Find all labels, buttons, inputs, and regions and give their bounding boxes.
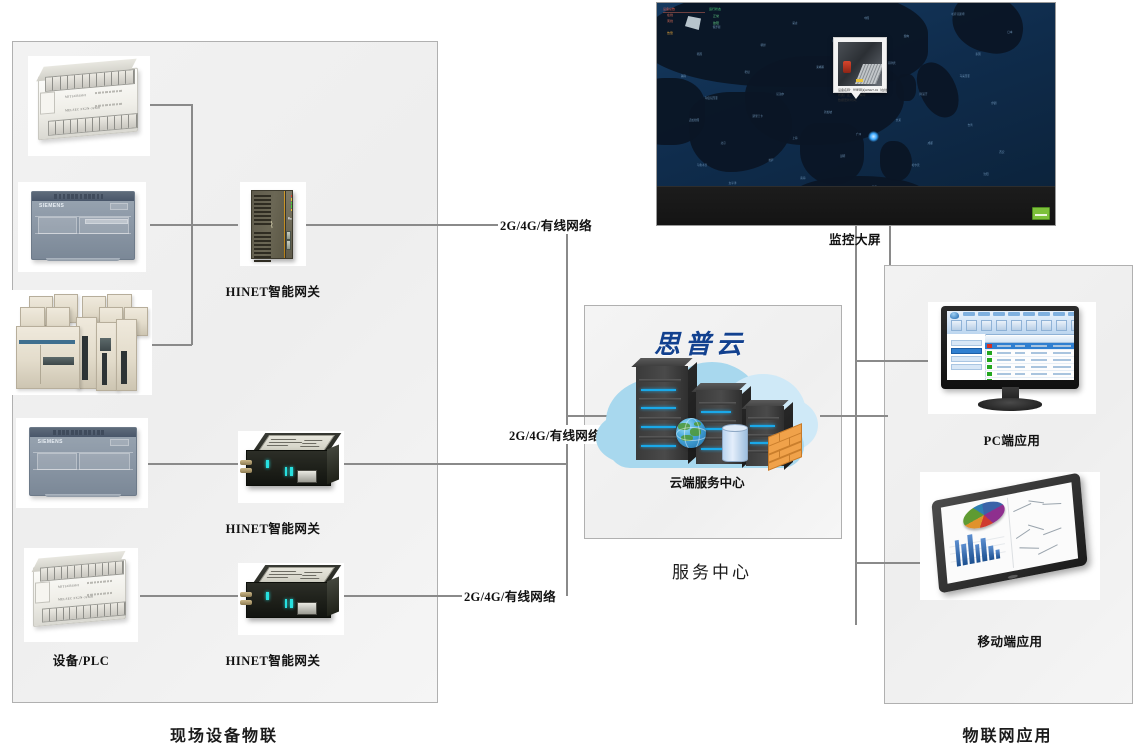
gateway-antenna-connector-2 [240,468,252,473]
gateway-ethernet-port-2 [286,240,292,249]
plc-brand-text: SIEMENS [38,439,63,445]
plc-mitsubishi-bottom[interactable]: MITSUBISHI MELSEC FX2N-32MR [24,548,138,642]
link-gateway3-to-trunk [343,595,463,597]
link-plc-to-gateway3 [140,595,238,597]
gateway-side-face [327,444,339,483]
rack-slat [639,379,681,382]
hinet-gateway-1[interactable]: ⌇ [240,182,306,266]
landmass-arabia [656,78,705,145]
plc-mitsubishi-top[interactable]: MITSUBISHI MELSEC FX2N-32MR [28,56,150,156]
plc-foot [46,258,120,261]
monitor-stand-base [978,398,1042,410]
rack-tall-2-slot [102,353,108,385]
rack-led-bar [701,411,731,413]
rack-slat [639,398,681,401]
photo-red-part [843,61,851,72]
gateway-1-caption: HINET智能网关 [226,281,321,300]
database-icon [722,426,748,462]
photo-yellow-part [856,79,863,83]
map-label: 文莱 [896,118,901,122]
pc-application-device[interactable] [928,302,1096,414]
plc-foot [45,494,121,497]
rack-tall-1-slot [82,336,88,380]
stats-item-2: 告警 [667,31,673,35]
plc-door-left [37,453,77,470]
gateway-rj45-port [297,470,317,484]
gateway-ethernet-port-1 [286,231,292,240]
map-label: 越南 [681,74,686,78]
table-row[interactable] [985,371,1074,378]
network-label-1: 2G/4G/有线网络 [498,215,594,234]
device-photo [838,42,882,86]
gateway-antenna-connector-2 [240,600,252,605]
tablet-body [932,473,1088,594]
line-segment [1014,504,1032,513]
map-label: 韩国 [697,52,702,56]
rack-cpu-stripe [19,340,75,343]
map-label: 尼泊尔 [776,92,784,96]
map-label: 南海 [800,176,805,180]
gateway-status-led-3 [290,467,293,476]
map-label: 拉萨 [768,158,773,162]
bigscreen-caption: 监控大屏 [829,229,881,248]
link-siemens-to-gateway1 [150,224,238,226]
mobile-app-caption: 移动端应用 [977,631,1042,650]
map-label: 乌鲁木齐 [697,163,707,167]
link-gateway1-to-trunk [306,224,501,226]
gateway-signal-mark: ⌇ [270,220,274,231]
gateway-antenna-connector-1 [240,592,252,597]
gateway-status-led-3 [290,599,293,608]
plc-rack-cluster[interactable] [12,290,152,395]
bigscreen-drop-line [889,223,891,265]
app-ribbon-toolbar [947,311,1074,336]
map-label: 上海 [792,136,797,140]
bar [981,538,988,562]
plc-body: SIEMENS [29,427,137,496]
map-label: 老挝 [745,70,750,74]
map-label: 孟加拉国 [689,118,699,122]
map-label: 日本 [1007,30,1012,34]
gateway-2-caption: HINET智能网关 [226,518,321,537]
gateway-side-face [327,576,339,615]
diagram-canvas: 2G/4G/有线网络 2G/4G/有线网络 2G/4G/有线网络 设备总数 运行… [0,0,1143,752]
map-label: 阿富汗 [920,92,928,96]
hinet-gateway-2[interactable] [238,431,344,503]
map-label: 昆明 [840,154,845,158]
map-label: 西安 [999,150,1004,154]
map-label: 伊朗 [991,101,996,105]
stats-polygon [685,16,701,30]
popup-tail [850,91,862,99]
map-label: 马来西亚 [959,74,969,78]
map-label: 菲律宾 [888,61,896,65]
landmass-korea [896,74,916,101]
table-row[interactable] [985,357,1074,364]
plc-brand-text: SIEMENS [39,203,64,209]
right-trunk-line [855,225,857,625]
cloud-service-illustration[interactable]: 思普云 [592,320,832,500]
cloud-sublabel: 云端服务中心 [670,472,745,491]
gateway-led-column [291,195,292,212]
link-mitsubishi-to-branch [150,104,192,106]
stats-item-0: 在线 [667,13,673,17]
rack-slat [699,420,736,423]
gateway-antenna-knob-2 [290,218,292,220]
stats-item-1: 离线 [667,19,673,23]
link-gateway2-to-trunk [343,463,567,465]
plc-model-plate [110,439,129,446]
plc-side-panel [40,91,55,114]
bar [975,544,981,563]
rack-cpu-terminal [43,357,74,364]
app-body [947,334,1074,380]
map-label: 新加坡 [824,110,832,114]
plc-door-left [38,217,77,234]
plc-siemens-top[interactable]: SIEMENS [18,182,146,272]
backbone-trunk-line [566,224,568,596]
map-label: 太平洋 [729,181,737,185]
tree-node-2[interactable] [951,356,982,362]
map-label: 斯里兰卡 [753,114,763,118]
gateway-3-caption: HINET智能网关 [226,650,321,669]
map-label: 哈尔滨 [912,163,920,167]
gateway-status-led-2 [285,599,288,608]
bar [962,543,968,565]
cloud-brand-logo: 思普云 [654,324,747,361]
link-siemens2-to-gateway2 [148,463,238,465]
rack-slat [748,417,778,420]
globe-meridian-2 [676,427,706,441]
globe-icon [676,418,706,448]
map-label: 俄罗斯 [713,25,721,29]
plc-siemens-mid[interactable]: SIEMENS [16,418,148,508]
app-ribbon-buttons[interactable] [951,320,1074,331]
gateway-body: ⌇ [251,190,294,259]
gateway-front-face [246,582,331,619]
rack-slat [699,402,736,405]
line-segment [1039,544,1059,555]
plc-vent-slots [54,194,103,199]
rack-slat [639,436,681,439]
gateway-status-led-2 [285,467,288,476]
app-table-header [985,336,1074,343]
rack-tall-3-slot [121,351,127,385]
database-lid [722,424,748,432]
network-label-3: 2G/4G/有线网络 [462,586,558,605]
plc-side-panel [35,581,50,603]
monitor-screen [947,311,1074,381]
gateway-rj45-port [297,602,317,616]
rack-cpu-seam [40,345,41,385]
map-device-popup[interactable]: 设备名称：智能网关HINET-01（在线） 所属厂区：01号车间 数据更新时间： [833,37,887,93]
link-rack-to-branch [150,344,192,346]
map-label: 朝鲜 [760,43,765,47]
table-row[interactable] [985,364,1074,371]
gateway-vents-bottom [254,232,271,262]
tree-node-root[interactable] [951,340,982,346]
map-label: 台湾 [967,123,972,127]
map-label: 成都 [928,141,933,145]
rack-led-bar [641,407,675,409]
plc-vent-slots [53,430,104,435]
map-marker-pin[interactable] [868,131,879,142]
tree-node-selected[interactable] [951,348,982,354]
map-label: 中国 [864,16,869,20]
line-segment [1019,548,1039,549]
stats-title-left: 设备总数 [663,7,675,11]
rack-led-bar [641,389,675,391]
rack-tall-2-panel [100,338,111,351]
map-label: 缅甸 [904,34,909,38]
stats-divider [663,12,705,13]
server-rack-1 [636,366,688,460]
plc-bottom-caption: 设备/PLC [53,650,109,669]
map-label: 哈萨克斯坦 [952,12,965,16]
screen-status-badge-icon [1032,207,1050,220]
service-group-caption: 服务中心 [584,558,840,583]
plc-terminal-strip [85,219,128,224]
map-label: 柬埔寨 [816,65,824,69]
application-group-caption: 物联网应用 [884,722,1131,746]
gateway-antenna-connector-1 [240,460,252,465]
app-menu-orb-icon[interactable] [950,312,959,319]
map-label: 沈阳 [983,172,988,176]
rack-led-bar [750,425,775,427]
map-label: 蒙古 [792,21,797,25]
app-ribbon-tabs[interactable] [963,312,1074,316]
link-branch-vertical-lower [191,224,193,345]
monitoring-big-screen[interactable]: 设备总数 运行状态 在线 离线 告警 正常 故障 俄罗斯蒙古中国哈萨克斯坦日本韩… [656,2,1056,226]
table-row[interactable] [985,343,1074,350]
rack-led-bar [641,426,675,428]
gateway-front-face [246,450,331,487]
tree-node-3[interactable] [951,364,982,370]
map-label: 北京 [721,141,726,145]
mobile-application-device[interactable] [920,472,1100,600]
table-row[interactable] [985,350,1074,357]
tablet-home-button[interactable] [1008,575,1019,580]
map-label: 印度尼西亚 [705,96,718,100]
map-label: 泰国 [975,52,980,56]
landmass-philippines [880,141,912,181]
field-group-caption: 现场设备物联 [12,722,436,746]
gateway-status-led-1 [266,460,269,469]
line-segment [1043,528,1061,536]
gateway-right-panel [285,191,293,258]
plc-model-plate [110,203,128,210]
line-segment [1028,524,1044,530]
map-label: 广州 [856,132,861,136]
screen-wall-base [657,186,1055,225]
line-segment [1043,503,1061,505]
pie-chart [962,497,1006,533]
stats-item-3: 正常 [713,14,719,18]
plc-body: SIEMENS [31,191,135,260]
monitor-bezel [941,306,1079,389]
table-row[interactable] [985,378,1074,380]
plc-door-right [79,453,131,470]
app-device-tree[interactable] [947,334,986,380]
rack-slat [639,417,681,420]
bar [989,546,995,561]
chart-divider [1007,498,1014,568]
tablet-screen [941,483,1078,584]
pc-app-caption: PC端应用 [984,430,1041,449]
map-stats-panel: 设备总数 运行状态 在线 离线 告警 正常 故障 [663,7,751,41]
hinet-gateway-3[interactable] [238,563,344,635]
stats-title-right: 运行状态 [709,7,721,11]
line-segment [1016,529,1030,539]
popup-line-1: 设备名称：智能网关HINET-01（在线） [838,88,890,92]
gateway-status-led-1 [266,592,269,601]
rack-led-bar [641,445,675,447]
network-label-2: 2G/4G/有线网络 [507,425,603,444]
